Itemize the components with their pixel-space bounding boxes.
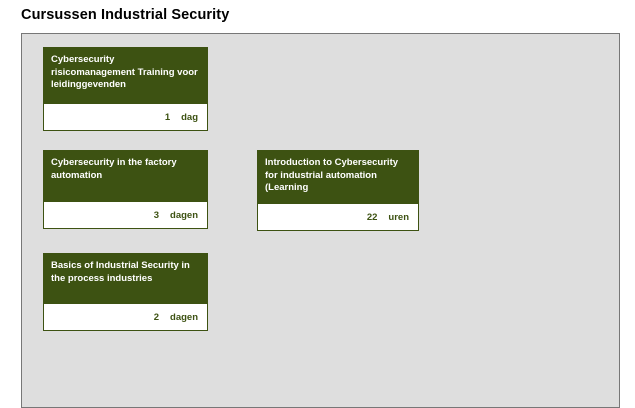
course-duration-amount: 2 (154, 312, 159, 323)
course-board: Cybersecurity risicomanagement Training … (21, 33, 620, 408)
page-title: Cursussen Industrial Security (21, 7, 229, 23)
course-duration-unit: dagen (170, 312, 198, 323)
course-card[interactable]: Basics of Industrial Security in the pro… (43, 253, 208, 331)
course-card[interactable]: Cybersecurity in the factory automation … (43, 150, 208, 229)
course-duration-amount: 1 (165, 112, 170, 123)
course-duration-unit: dagen (170, 210, 198, 221)
course-duration-unit: dag (181, 112, 198, 123)
course-duration: 3 dagen (44, 202, 207, 228)
course-card[interactable]: Introduction to Cybersecurity for indust… (257, 150, 419, 231)
course-duration-amount: 3 (154, 210, 159, 221)
course-title: Cybersecurity in the factory automation (44, 151, 207, 202)
course-duration: 22 uren (258, 204, 418, 230)
course-duration: 1 dag (44, 104, 207, 130)
course-title: Introduction to Cybersecurity for indust… (258, 151, 418, 204)
course-duration-amount: 22 (367, 212, 378, 223)
course-title: Cybersecurity risicomanagement Training … (44, 48, 207, 104)
course-card[interactable]: Cybersecurity risicomanagement Training … (43, 47, 208, 131)
course-duration-unit: uren (388, 212, 409, 223)
course-title: Basics of Industrial Security in the pro… (44, 254, 207, 304)
course-duration: 2 dagen (44, 304, 207, 330)
